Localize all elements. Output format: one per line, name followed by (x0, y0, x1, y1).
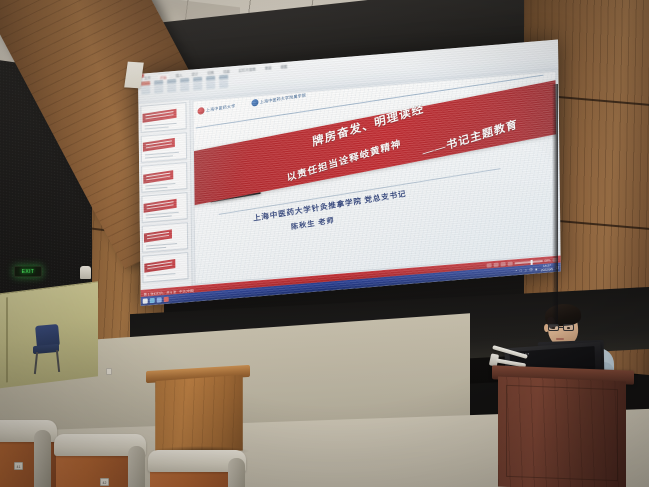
slide-title-line-1: 牌房奋发、明理读经 (311, 100, 424, 150)
font-icon[interactable] (167, 79, 176, 93)
seat-armrest (128, 446, 145, 487)
ime-icon[interactable]: 中 (529, 267, 532, 272)
podium-body (498, 377, 626, 487)
exit-sign-label: EXIT (22, 269, 35, 275)
powerpoint-taskbar-icon[interactable] (164, 297, 169, 302)
shapes-icon[interactable] (193, 77, 202, 91)
zoom-level[interactable]: 68% (544, 258, 550, 263)
thumbnail-red-band (142, 109, 176, 123)
ribbon-tab-review[interactable]: 审阅 (263, 64, 274, 73)
ribbon-tab-view[interactable]: 视图 (278, 63, 289, 72)
battery-icon[interactable]: ■ (535, 267, 537, 271)
editing-icon[interactable] (219, 75, 228, 89)
reading-view-icon[interactable] (500, 262, 505, 266)
emergency-exit-sign: EXIT (14, 266, 42, 277)
start-button-icon[interactable] (143, 298, 148, 303)
chevron-up-icon[interactable]: ^ (516, 269, 518, 273)
slide-thumbnail-panel[interactable] (138, 100, 192, 290)
speaker-podium (498, 368, 628, 487)
led-display-screen: 文件 开始 插入 设计 切换 动画 幻灯片放映 审阅 视图 (138, 40, 561, 306)
glasses-bridge (559, 327, 563, 328)
slide-edit-area[interactable]: 上海中医药大学 上海中医药大学附属学院 牌房奋发、明理读经 (192, 71, 558, 285)
wall-outlet (106, 368, 112, 375)
seat-armrest (228, 458, 245, 487)
thumbnail-red-band (144, 229, 172, 242)
slide-thumbnail[interactable] (141, 132, 187, 163)
wooden-lectern (150, 368, 246, 454)
thumbnail-red-band (143, 138, 175, 152)
explorer-icon[interactable] (157, 297, 162, 302)
slide-canvas: 上海中医药大学 上海中医药大学附属学院 牌房奋发、明理读经 (193, 72, 557, 284)
podium-front-panel (506, 385, 618, 481)
search-icon[interactable] (150, 298, 155, 303)
ribbon-tab-slideshow[interactable]: 幻灯片放映 (237, 65, 258, 75)
slide-thumbnail[interactable] (142, 222, 188, 253)
paragraph-icon[interactable] (180, 78, 189, 92)
presenter-eye (567, 327, 570, 329)
network-icon[interactable]: □ (520, 268, 522, 272)
slide-thumbnail[interactable] (141, 162, 187, 193)
seat-number-tag: 41 (14, 462, 23, 470)
presenter-eye (552, 327, 555, 329)
lecture-hall-photo: 文件 开始 插入 设计 切换 动画 幻灯片放映 审阅 视图 (0, 0, 649, 487)
normal-view-icon[interactable] (486, 263, 491, 267)
slideshow-view-icon[interactable] (507, 262, 512, 266)
slide-title-line-2: 以责任担当诠释岐黄精神 (286, 135, 402, 184)
sorter-view-icon[interactable] (493, 263, 498, 267)
slide-thumbnail[interactable] (141, 192, 187, 223)
thumbnail-red-band (143, 170, 173, 184)
volume-icon[interactable]: ♫ (524, 268, 527, 272)
new-slide-icon[interactable] (154, 80, 163, 94)
wall-speaker (80, 266, 91, 279)
presenter-mouth (556, 338, 564, 340)
crest-icon (251, 99, 258, 107)
lectern-body (155, 375, 243, 454)
thumbnail-red-band (144, 259, 175, 273)
arrange-icon[interactable] (206, 76, 215, 90)
thumbnail-red-band (144, 199, 177, 213)
paste-icon[interactable] (141, 81, 150, 95)
seat-number-tag: 42 (100, 478, 109, 486)
screen-right-bezel (552, 84, 558, 324)
slide-title-line-3: ——书记主题教育 (422, 116, 519, 161)
crest-icon (197, 107, 204, 115)
slide-thumbnail[interactable] (140, 102, 186, 133)
seat-armrest (34, 430, 51, 487)
slide-thumbnail[interactable] (142, 252, 188, 283)
